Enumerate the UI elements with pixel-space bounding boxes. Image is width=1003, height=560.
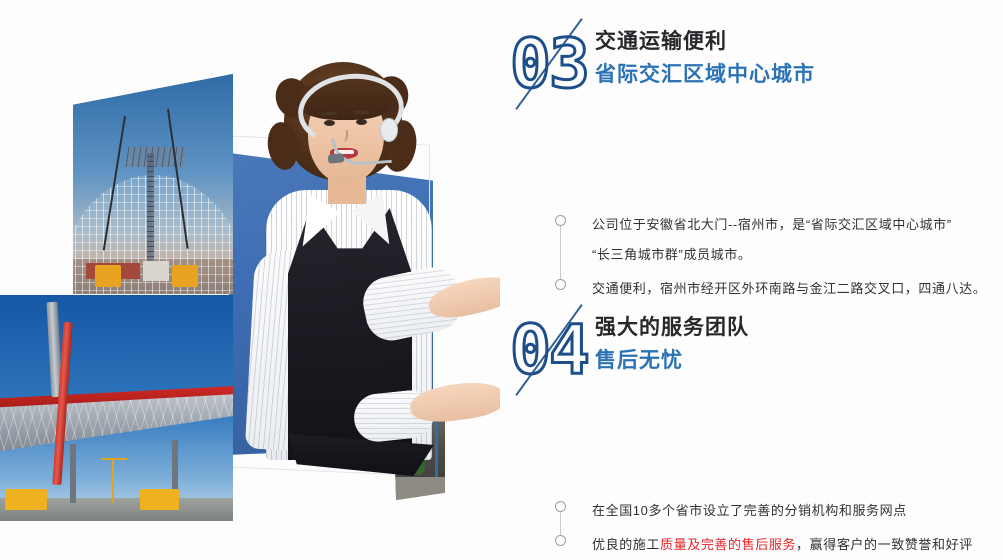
section-04-bullets: 在全国10多个省市设立了完善的分销机构和服务网点 优良的施工质量及完善的售后服务…: [552, 496, 1002, 560]
list-item: 公司位于安徽省北大门--宿州市，是“省际交汇区域中心城市” “长三角城市群”成员…: [552, 210, 1002, 270]
bullet-circle-icon: [555, 535, 566, 546]
section-title-primary: 强大的服务团队: [595, 312, 749, 344]
headset-microphone-icon: [328, 153, 345, 164]
section-04-number-badge: 04: [510, 308, 590, 392]
list-item: 优良的施工质量及完善的售后服务，赢得客户的一致赞誉和好评: [552, 530, 1002, 560]
section-03: 03 交通运输便利 省际交汇区域中心城市 公司位于安徽省北大门--宿州市，是“省…: [500, 22, 1003, 212]
section-04-titles: 强大的服务团队 售后无忧: [595, 312, 749, 378]
bullet-circle-icon: [555, 501, 566, 512]
crane-truck: [95, 265, 121, 287]
section-03-bullets: 公司位于安徽省北大门--宿州市，是“省际交汇区域中心城市” “长三角城市群”成员…: [552, 210, 1002, 304]
yellow-crane-truck: [140, 489, 180, 509]
bullet-circle-icon: [555, 279, 566, 290]
bullet-text-before: 优良的施工: [592, 537, 660, 552]
tower-crane: [112, 458, 114, 503]
bullet-text: 交通便利，宿州市经开区外环南路与金江二路交叉口，四通八达。: [592, 281, 986, 296]
page-root: 03 交通运输便利 省际交汇区域中心城市 公司位于安徽省北大门--宿州市，是“省…: [0, 0, 1003, 521]
section-03-titles: 交通运输便利 省际交汇区域中心城市: [595, 26, 815, 92]
center-tower: [147, 153, 154, 272]
bullet-text: 在全国10多个省市设立了完善的分销机构和服务网点: [592, 503, 907, 518]
content-column: 03 交通运输便利 省际交汇区域中心城市 公司位于安徽省北大门--宿州市，是“省…: [500, 0, 1003, 521]
list-item: 在全国10多个省市设立了完善的分销机构和服务网点: [552, 496, 1002, 526]
section-number: 04: [510, 314, 590, 388]
bullet-text-highlight: 质量及完善的售后服务: [660, 537, 796, 552]
section-03-header: 03 交通运输便利 省际交汇区域中心城市: [500, 22, 1003, 114]
section-title-secondary: 售后无忧: [595, 344, 749, 378]
call-center-agent-photo: [232, 62, 462, 462]
section-03-number-badge: 03: [510, 22, 590, 106]
bullet-text-composite: 优良的施工质量及完善的售后服务，赢得客户的一致赞誉和好评: [592, 537, 973, 552]
photo-steel-space-frame: [73, 74, 233, 294]
yellow-crane-truck: [5, 489, 47, 509]
photo-collage: [0, 0, 500, 521]
section-04: 04 强大的服务团队 售后无忧 在全国10多个省市设立了完善的分销机构和服务网点…: [500, 308, 1003, 468]
list-item: 交通便利，宿州市经开区外环南路与金江二路交叉口，四通八达。: [552, 274, 1002, 304]
section-title-secondary: 省际交汇区域中心城市: [595, 58, 815, 92]
section-title-primary: 交通运输便利: [595, 26, 815, 58]
section-number: 03: [510, 28, 590, 102]
bullet-text: 公司位于安徽省北大门--宿州市，是“省际交汇区域中心城市” “长三角城市群”成员…: [592, 217, 952, 262]
bullet-text-after: ，赢得客户的一致赞誉和好评: [796, 537, 973, 552]
section-04-header: 04 强大的服务团队 售后无忧: [500, 308, 1003, 400]
site-container: [143, 261, 169, 281]
road: [393, 477, 445, 500]
frame-top-section: [126, 147, 186, 167]
photo-canopy-roof-lift: [0, 295, 233, 521]
support-column: [70, 444, 76, 503]
crane-truck: [172, 265, 198, 287]
bullet-circle-icon: [555, 215, 566, 226]
